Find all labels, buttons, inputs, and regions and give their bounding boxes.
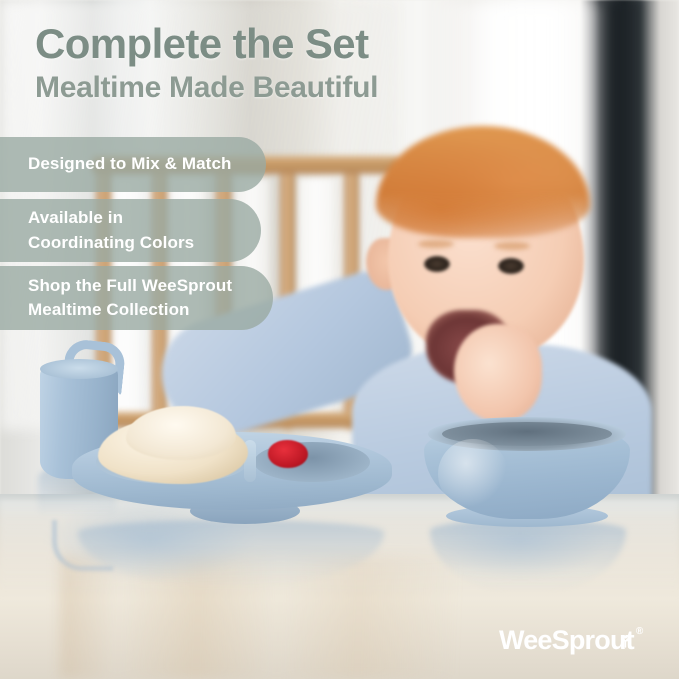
feature-pill-shop-collection: Shop the Full WeeSprout Mealtime Collect… [0, 266, 273, 330]
divided-plate [72, 432, 392, 532]
bread-food-top [126, 406, 236, 460]
child-eyebrow-right [494, 242, 530, 250]
cup-rim [40, 359, 118, 379]
raspberry-food [268, 440, 308, 468]
child-hand [454, 324, 542, 422]
brand-name-part1: WeeSpr [499, 625, 594, 655]
child-eyebrow-left [418, 240, 454, 248]
sprout-icon [616, 632, 635, 651]
feature-pill-mix-match: Designed to Mix & Match [0, 137, 266, 192]
feature-pill-line: Mealtime Collection [28, 298, 273, 322]
suction-bowl [424, 417, 630, 527]
page-title: Complete the Set [35, 23, 368, 65]
feature-pill-line: Coordinating Colors [28, 231, 261, 255]
child-eye-left [424, 256, 450, 272]
product-infographic: Complete the Set Mealtime Made Beautiful… [0, 0, 679, 679]
feature-pill-line: Shop the Full WeeSprout [28, 274, 273, 298]
feature-pill-line: Available in [28, 206, 261, 230]
brand-logo-text: WeeSprout® [499, 627, 642, 654]
child-hair [376, 126, 590, 238]
feature-pill-line: Designed to Mix & Match [28, 152, 266, 176]
page-subtitle: Mealtime Made Beautiful [35, 73, 378, 103]
feature-pill-coordinating-colors: Available in Coordinating Colors [0, 199, 261, 262]
registered-mark: ® [636, 626, 643, 637]
brand-logo: WeeSprout® [499, 627, 642, 654]
bowl-highlight [438, 439, 508, 509]
child-eye-right [498, 258, 524, 274]
